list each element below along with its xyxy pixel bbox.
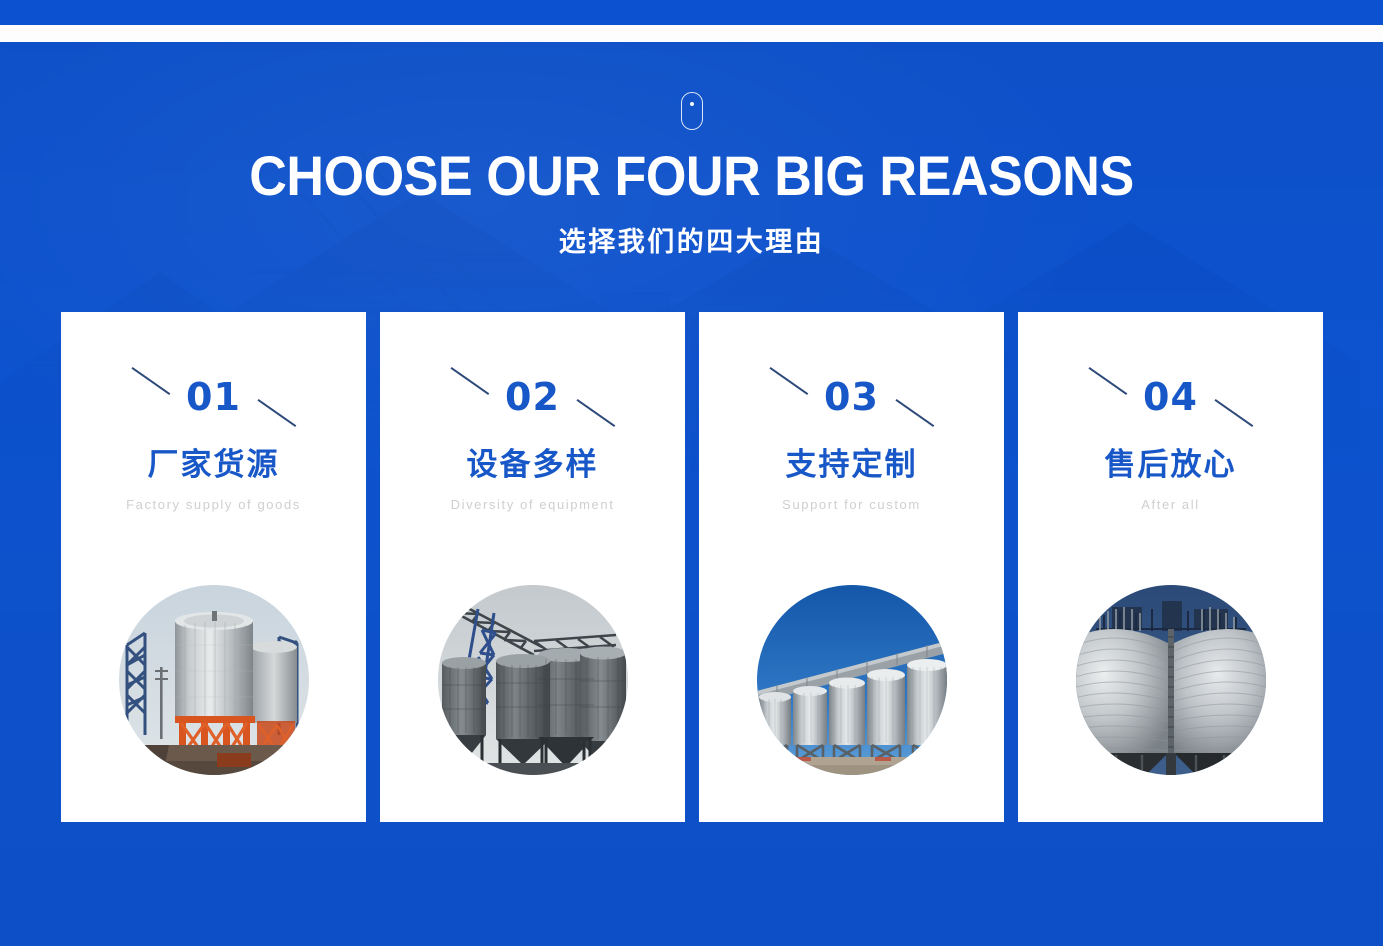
diagonal-slash-left-icon (450, 367, 489, 395)
diagonal-slash-right-icon (576, 399, 615, 427)
card-subtitle: Factory supply of goods (104, 496, 324, 515)
card-subtitle: Diversity of equipment (423, 496, 643, 515)
reason-card-03[interactable]: 03 支持定制 Support for custom (699, 312, 1004, 822)
card-number: 03 (824, 378, 879, 416)
card-number: 04 (1143, 378, 1198, 416)
page-subtitle: 选择我们的四大理由 (0, 220, 1383, 259)
card-photo-row-of-silos[interactable] (757, 585, 947, 775)
reason-card-04[interactable]: 04 售后放心 After all (1018, 312, 1323, 822)
card-title: 厂家货源 (148, 448, 280, 484)
card-number-group: 01 (114, 374, 314, 420)
diagonal-slash-left-icon (769, 367, 808, 395)
card-photo-corrugated-silos-closeup[interactable] (1076, 585, 1266, 775)
card-title: 设备多样 (467, 448, 599, 484)
card-number: 02 (505, 378, 560, 416)
title-block: CHOOSE OUR FOUR BIG REASONS 选择我们的四大理由 (0, 147, 1383, 259)
white-divider-strip (0, 25, 1383, 42)
card-number-group: 03 (752, 374, 952, 420)
diagonal-slash-left-icon (1088, 367, 1127, 395)
card-subtitle: After all (1061, 496, 1281, 515)
corrugated-steel-silos-closeup-image (1076, 585, 1266, 775)
card-number-group: 02 (433, 374, 633, 420)
card-photo-silo-orange-support[interactable] (119, 585, 309, 775)
mouse-scroll-icon[interactable] (681, 92, 703, 130)
card-title: 支持定制 (786, 448, 918, 484)
hero-section: CHOOSE OUR FOUR BIG REASONS 选择我们的四大理由 01… (0, 42, 1383, 946)
grey-silos-with-conveyor-image (438, 585, 628, 775)
card-number-group: 04 (1071, 374, 1271, 420)
diagonal-slash-right-icon (895, 399, 934, 427)
page-title: CHOOSE OUR FOUR BIG REASONS (48, 147, 1334, 206)
card-subtitle: Support for custom (742, 496, 962, 515)
silo-with-orange-support-structure-image (119, 585, 309, 775)
diagonal-slash-right-icon (257, 399, 296, 427)
card-number: 01 (186, 378, 241, 416)
reason-card-02[interactable]: 02 设备多样 Diversity of equipment (380, 312, 685, 822)
mouse-scroll-dot (690, 102, 694, 106)
reasons-card-row: 01 厂家货源 Factory supply of goods (61, 312, 1323, 822)
card-photo-grey-silos-conveyor[interactable] (438, 585, 628, 775)
row-of-steel-silos-blue-sky-image (757, 585, 947, 775)
top-blue-bar (0, 0, 1383, 25)
diagonal-slash-left-icon (131, 367, 170, 395)
reason-card-01[interactable]: 01 厂家货源 Factory supply of goods (61, 312, 366, 822)
page-root: CHOOSE OUR FOUR BIG REASONS 选择我们的四大理由 01… (0, 0, 1383, 946)
card-title: 售后放心 (1105, 448, 1237, 484)
diagonal-slash-right-icon (1214, 399, 1253, 427)
